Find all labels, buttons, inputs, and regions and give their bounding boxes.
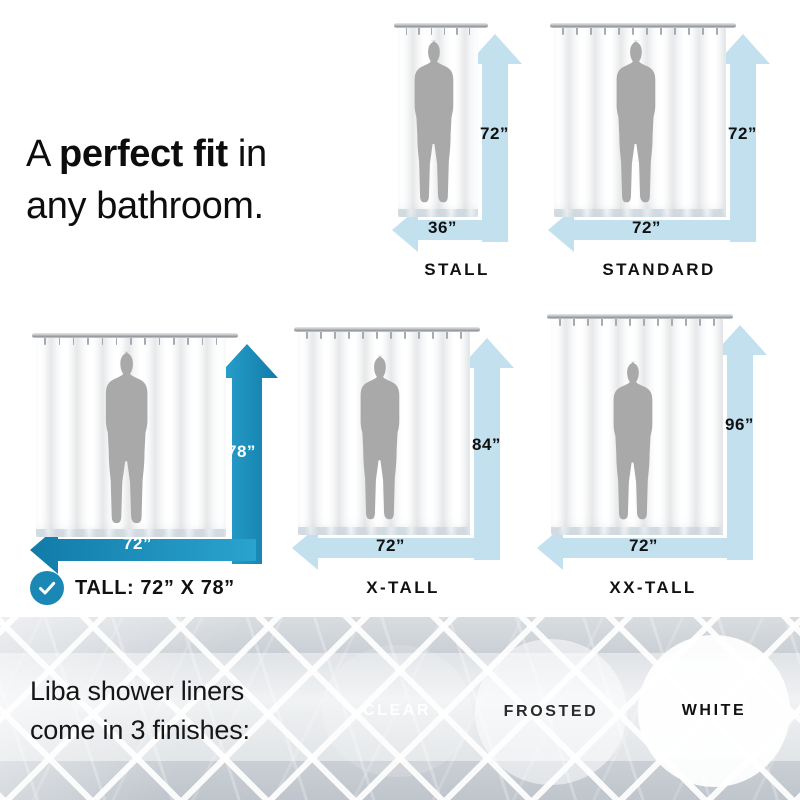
finish-label-white: WHITE: [682, 702, 747, 720]
size-panel-tall[interactable]: 78” 72” TALL: 72” X 78”: [30, 322, 282, 600]
curtain-diagram-stall: 72” 36”: [392, 12, 522, 250]
size-panel-x-tall[interactable]: 84” 72” X-TALL: [292, 316, 514, 598]
size-label-standard: STANDARD: [548, 260, 770, 280]
curtain-diagram-standard: 72” 72”: [548, 12, 770, 250]
curtain-hooks-stall: [400, 28, 476, 36]
person-silhouette-xx-tall: [610, 360, 664, 522]
person-silhouette-tall: [102, 350, 160, 526]
size-label-stall: STALL: [392, 260, 522, 280]
size-label-xx-tall: XX-TALL: [537, 578, 769, 598]
height-dimension-x-tall: 84”: [472, 435, 501, 455]
height-dimension-tall: 78”: [227, 442, 256, 462]
height-dimension-stall: 72”: [480, 124, 509, 144]
finish-label-frosted: FROSTED: [504, 703, 599, 721]
check-icon: [30, 571, 64, 605]
page-headline: A perfect fit in any bathroom.: [26, 128, 376, 233]
curtain-hooks-x-tall: [300, 332, 468, 340]
curtain-hooks-standard: [556, 28, 724, 36]
size-label-x-tall: X-TALL: [292, 578, 514, 598]
size-panel-standard[interactable]: 72” 72” STANDARD: [548, 12, 770, 277]
finishes-intro-text: Liba shower liners come in 3 finishes:: [30, 672, 250, 750]
finish-swatch-frosted[interactable]: FROSTED: [475, 639, 627, 785]
headline-line2: any bathroom.: [26, 185, 264, 227]
size-panel-xx-tall[interactable]: 96” 72” XX-TALL: [537, 303, 769, 598]
width-dimension-xx-tall: 72”: [629, 536, 658, 556]
height-dimension-xx-tall: 96”: [725, 415, 754, 435]
finish-swatch-clear[interactable]: CLEAR: [322, 645, 472, 777]
size-panel-stall[interactable]: 72” 36” STALL: [392, 12, 522, 277]
curtain-hooks-xx-tall: [553, 319, 721, 327]
person-silhouette-x-tall: [357, 354, 411, 522]
headline-line1-post: in: [228, 133, 267, 175]
finish-label-clear: CLEAR: [363, 702, 431, 720]
featured-size-badge[interactable]: TALL: 72” X 78”: [30, 571, 235, 605]
finishes-intro-line2: come in 3 finishes:: [30, 711, 250, 750]
width-dimension-standard: 72”: [632, 218, 661, 238]
curtain-diagram-x-tall: 84” 72”: [292, 316, 514, 568]
finish-swatch-white[interactable]: WHITE: [638, 635, 790, 787]
curtain-diagram-tall: 78” 72”: [30, 322, 282, 570]
width-dimension-tall: 72”: [123, 534, 152, 554]
curtain-diagram-xx-tall: 96” 72”: [537, 303, 769, 568]
person-silhouette-standard: [613, 39, 667, 205]
width-dimension-x-tall: 72”: [376, 536, 405, 556]
person-silhouette-stall: [411, 39, 465, 205]
headline-emphasis: perfect fit: [59, 133, 228, 175]
finishes-intro-line1: Liba shower liners: [30, 672, 250, 711]
curtain-hooks-tall: [38, 338, 224, 346]
height-dimension-standard: 72”: [728, 124, 757, 144]
headline-line1-pre: A: [26, 133, 59, 175]
featured-size-label: TALL: 72” X 78”: [75, 577, 235, 600]
width-dimension-stall: 36”: [428, 218, 457, 238]
